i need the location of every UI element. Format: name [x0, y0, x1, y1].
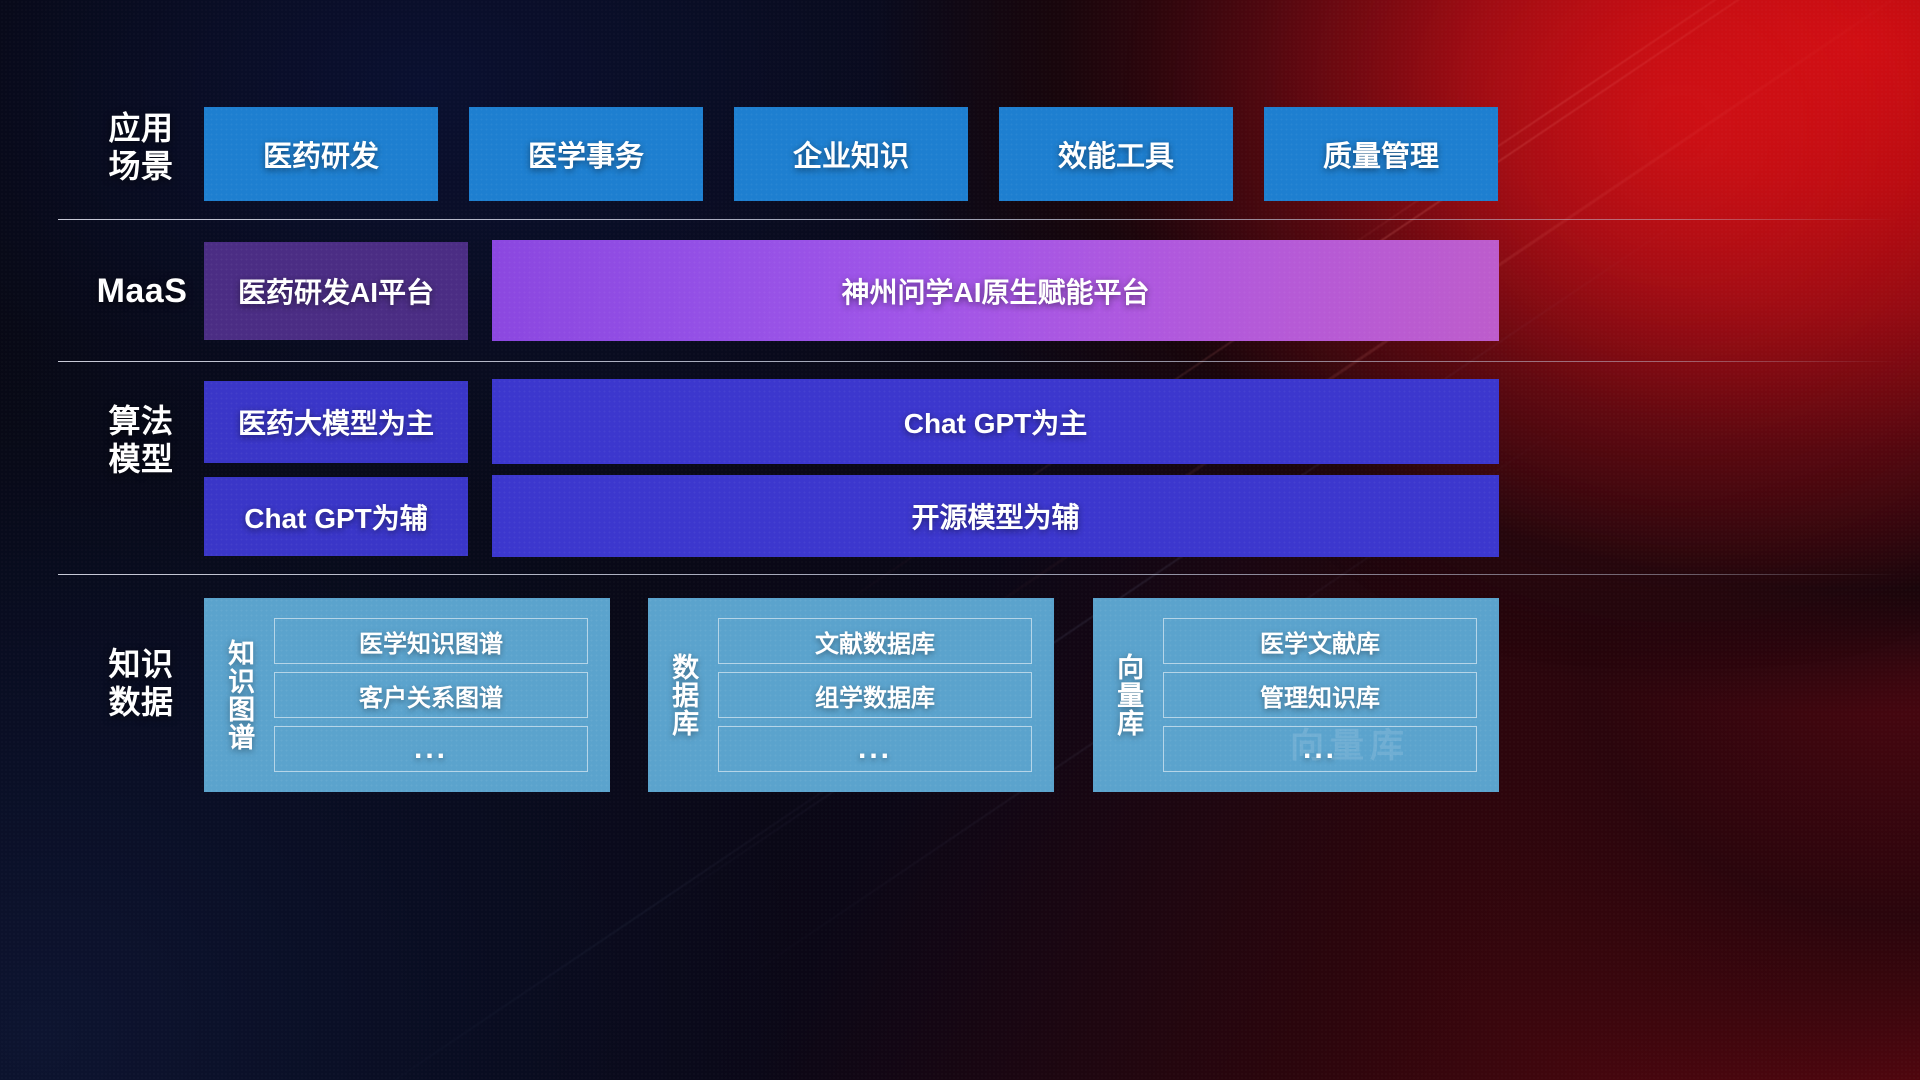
row-label-knowledge-line2: 数据 [76, 684, 206, 722]
divider-algorithm-knowledge [58, 574, 1898, 575]
knowledge-item[interactable]: 医学文献库 [1163, 618, 1477, 664]
knowledge-item[interactable]: ... [718, 726, 1032, 772]
app-card-2-label: 企业知识 [793, 133, 909, 175]
knowledge-group-1-items: 文献数据库 组学数据库 ... [718, 598, 1054, 792]
knowledge-group-2-vertical-label: 向量库 [1093, 598, 1163, 792]
knowledge-group-1: 数据库 文献数据库 组学数据库 ... [648, 598, 1054, 792]
app-card-0[interactable]: 医药研发 [204, 107, 438, 201]
row-label-application-line2: 场景 [76, 148, 206, 186]
algo-left-card-1-label: Chat GPT为辅 [244, 497, 428, 537]
row-label-algorithm-line2: 模型 [76, 441, 206, 479]
knowledge-item-label: ... [414, 732, 448, 766]
divider-application-maas [58, 219, 1898, 220]
row-label-application: 应用 场景 [76, 110, 206, 186]
knowledge-item-label: ... [858, 732, 892, 766]
knowledge-item-label: 客户关系图谱 [359, 678, 503, 713]
row-label-application-line1: 应用 [76, 110, 206, 148]
row-label-maas: MaaS [72, 271, 212, 311]
app-card-1-label: 医学事务 [528, 133, 644, 175]
knowledge-group-0-vertical-label: 知识图谱 [204, 598, 274, 792]
knowledge-item-label: 医学文献库 [1260, 624, 1380, 659]
knowledge-item[interactable]: 客户关系图谱 [274, 672, 588, 718]
knowledge-item[interactable]: 管理知识库 [1163, 672, 1477, 718]
knowledge-group-1-vertical-label: 数据库 [648, 598, 718, 792]
app-card-4[interactable]: 质量管理 [1264, 107, 1498, 201]
maas-wide-card[interactable]: 神州问学AI原生赋能平台 [492, 240, 1499, 341]
knowledge-item-label: ... [1303, 732, 1337, 766]
algo-right-card-1[interactable]: 开源模型为辅 [492, 475, 1499, 557]
architecture-diagram: 应用 场景 医药研发 医学事务 企业知识 效能工具 质量管理 MaaS 医药研发… [0, 0, 1920, 1080]
algo-left-card-0-label: 医药大模型为主 [238, 402, 434, 442]
row-label-knowledge: 知识 数据 [76, 646, 206, 722]
app-card-3-label: 效能工具 [1058, 133, 1174, 175]
knowledge-item-label: 组学数据库 [815, 678, 935, 713]
algo-right-card-0-label: Chat GPT为主 [904, 402, 1088, 442]
algo-left-card-0[interactable]: 医药大模型为主 [204, 381, 468, 463]
knowledge-group-2-items: 医学文献库 管理知识库 ... [1163, 598, 1499, 792]
maas-wide-card-label: 神州问学AI原生赋能平台 [841, 271, 1149, 311]
algo-right-card-1-label: 开源模型为辅 [911, 496, 1079, 536]
app-card-2[interactable]: 企业知识 [734, 107, 968, 201]
knowledge-item[interactable]: 文献数据库 [718, 618, 1032, 664]
knowledge-group-0: 知识图谱 医学知识图谱 客户关系图谱 ... [204, 598, 610, 792]
knowledge-group-2: 向量库 医学文献库 管理知识库 ... [1093, 598, 1499, 792]
knowledge-item-label: 管理知识库 [1260, 678, 1380, 713]
knowledge-item[interactable]: ... [274, 726, 588, 772]
app-card-3[interactable]: 效能工具 [999, 107, 1233, 201]
knowledge-item[interactable]: 组学数据库 [718, 672, 1032, 718]
maas-left-card[interactable]: 医药研发AI平台 [204, 242, 468, 340]
row-label-algorithm-line1: 算法 [76, 403, 206, 441]
app-card-4-label: 质量管理 [1323, 133, 1439, 175]
knowledge-group-0-items: 医学知识图谱 客户关系图谱 ... [274, 598, 610, 792]
knowledge-item[interactable]: ... [1163, 726, 1477, 772]
knowledge-item-label: 文献数据库 [815, 624, 935, 659]
row-label-maas-text: MaaS [72, 271, 212, 311]
knowledge-item-label: 医学知识图谱 [359, 624, 503, 659]
algo-left-card-1[interactable]: Chat GPT为辅 [204, 477, 468, 556]
algo-right-card-0[interactable]: Chat GPT为主 [492, 379, 1499, 464]
knowledge-item[interactable]: 医学知识图谱 [274, 618, 588, 664]
row-label-knowledge-line1: 知识 [76, 646, 206, 684]
app-card-1[interactable]: 医学事务 [469, 107, 703, 201]
divider-maas-algorithm [58, 361, 1898, 362]
row-label-algorithm: 算法 模型 [76, 403, 206, 479]
app-card-0-label: 医药研发 [263, 133, 379, 175]
maas-left-card-label: 医药研发AI平台 [238, 271, 434, 311]
